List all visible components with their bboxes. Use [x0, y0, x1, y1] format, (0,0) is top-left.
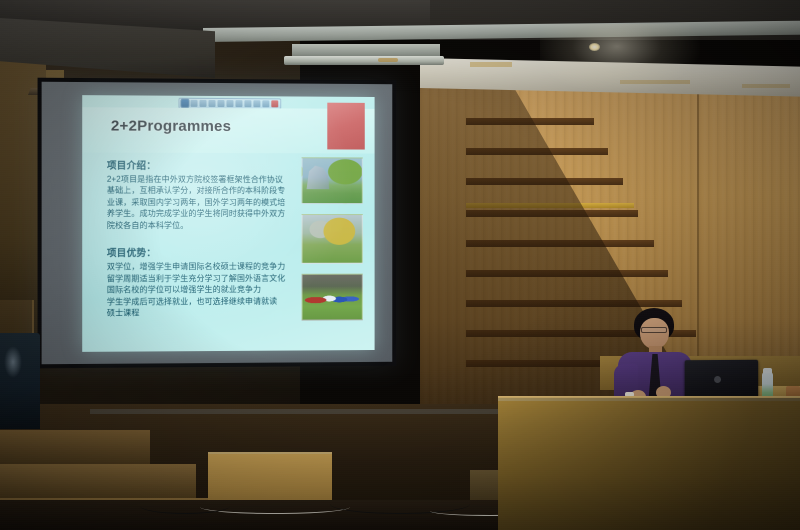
screen-surface: 2+2Programmes 项目介绍： 2+2项目是指在中外双方院校签署框架性合… — [42, 82, 393, 364]
wall-stain — [742, 84, 790, 88]
housing-stain — [378, 58, 398, 62]
slide-body: 项目介绍： 2+2项目是指在中外双方院校签署框架性合作协议 基础上，互相承认学分… — [107, 158, 305, 320]
body-line: 国际名校的学位可以增强学生的就业竞争力 — [107, 284, 305, 296]
body-line: 业课，采取国内学习两年，国外学习两年的模式培 — [107, 197, 305, 209]
body-line: 硕士课程 — [107, 307, 305, 319]
presentation-slide[interactable]: 2+2Programmes 项目介绍： 2+2项目是指在中外双方院校签署框架性合… — [83, 95, 375, 352]
stage-step — [0, 464, 196, 498]
section-body-advantages: 双学位，增强学生申请国际名校硕士课程的竞争力 留学周期适当利于学生充分学习了解国… — [107, 261, 305, 319]
slide-accent-block — [328, 103, 365, 150]
close-icon[interactable] — [271, 100, 278, 107]
body-line: 学生学成后可选择就业，也可选择继续申请就读 — [107, 296, 305, 308]
lecture-hall-scene: 2+2Programmes 项目介绍： 2+2项目是指在中外双方院校签署框架性合… — [0, 0, 800, 530]
settings-icon[interactable] — [262, 100, 269, 107]
photo-campus-autumn — [302, 214, 363, 264]
section-heading-advantages: 项目优势： — [107, 245, 305, 259]
body-line: 养学生。成功完成学业的学生将同时获得中外双方 — [107, 208, 305, 220]
stage-step — [0, 430, 150, 464]
copy-icon[interactable] — [217, 100, 224, 107]
glasses-icon — [641, 327, 667, 333]
home-icon[interactable] — [208, 100, 215, 107]
search-icon[interactable] — [199, 100, 206, 107]
body-line: 双学位，增强学生申请国际名校硕士课程的竞争力 — [107, 261, 305, 273]
pen-icon[interactable] — [244, 100, 251, 107]
bottle-cap — [763, 368, 772, 373]
photo-campus-archway — [302, 157, 363, 204]
body-line: 2+2项目是指在中外双方院校签署框架性合作协议 — [107, 174, 305, 186]
record-icon[interactable] — [181, 100, 188, 107]
chair-highlight — [4, 346, 22, 378]
body-line: 院校各自的本科学位。 — [107, 220, 305, 232]
eraser-icon[interactable] — [253, 100, 260, 107]
wall-stain — [470, 62, 512, 67]
slide-title: 2+2Programmes — [111, 117, 231, 135]
stage-trim-band — [90, 409, 510, 414]
podium-shadow — [498, 398, 800, 530]
section-body-intro: 2+2项目是指在中外双方院校签署框架性合作协议 基础上，互相承认学分，对接所合作… — [107, 174, 305, 232]
stage-chair — [0, 333, 40, 429]
spotlight-icon — [589, 43, 600, 51]
section-spacer — [107, 231, 305, 245]
presenter-face — [640, 318, 669, 349]
screen-roller — [284, 56, 444, 65]
body-line: 基础上，互相承认学分，对接所合作的本科阶段专 — [107, 185, 305, 197]
photo-soccer-match — [302, 274, 363, 321]
wall-stain — [620, 80, 690, 84]
projection-screen[interactable]: 2+2Programmes 项目介绍： 2+2项目是指在中外双方院校签署框架性合… — [38, 78, 397, 369]
grid-icon[interactable] — [235, 100, 242, 107]
body-line: 留学周期适当利于学生充分学习了解国外语言文化 — [107, 273, 305, 285]
person-icon[interactable] — [190, 100, 197, 107]
page-icon[interactable] — [226, 100, 233, 107]
section-heading-intro: 项目介绍： — [107, 158, 305, 173]
laptop-logo-icon — [714, 376, 721, 383]
cable — [140, 498, 230, 514]
